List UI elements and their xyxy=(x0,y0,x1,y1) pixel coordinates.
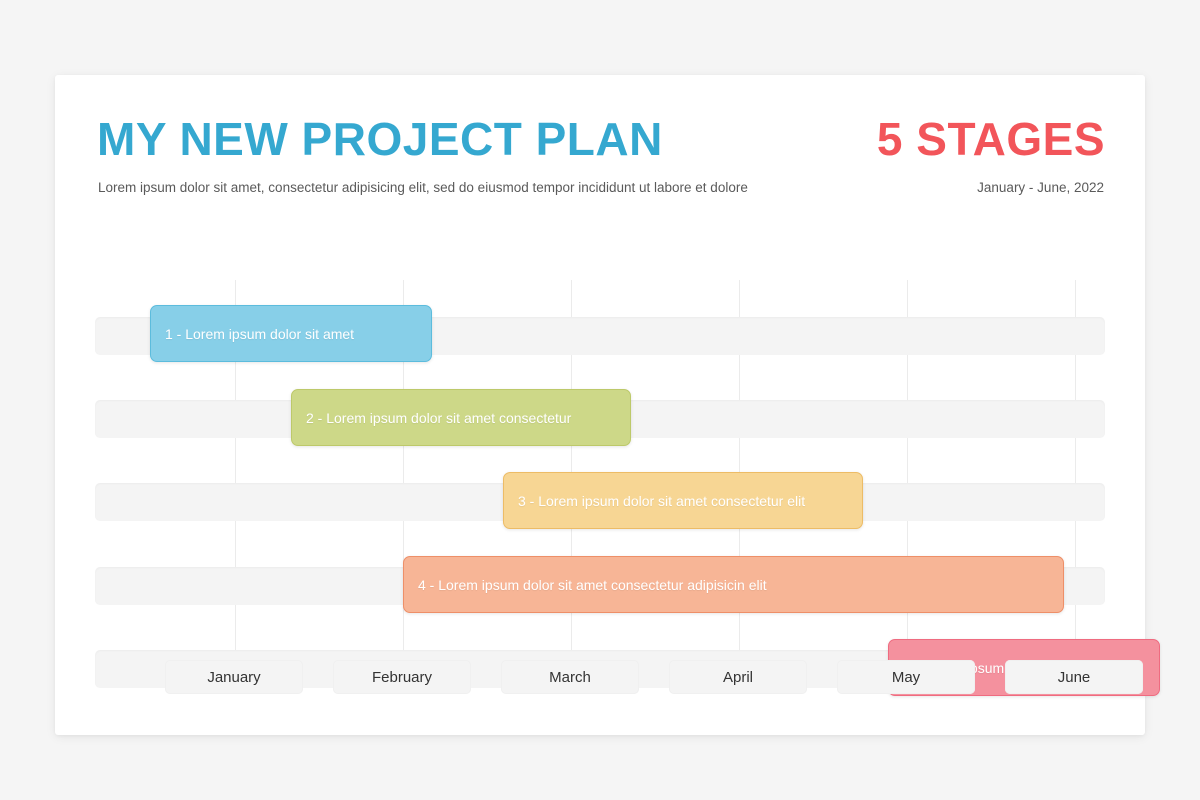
gantt-plot-area: 1 - Lorem ipsum dolor sit amet2 - Lorem … xyxy=(55,75,1145,735)
task-bar-4[interactable]: 4 - Lorem ipsum dolor sit amet consectet… xyxy=(403,556,1064,613)
task-bar-label: 2 - Lorem ipsum dolor sit amet consectet… xyxy=(292,410,585,426)
month-label-march[interactable]: March xyxy=(501,660,639,694)
task-bar-3[interactable]: 3 - Lorem ipsum dolor sit amet consectet… xyxy=(503,472,863,529)
task-bar-label: 3 - Lorem ipsum dolor sit amet consectet… xyxy=(504,493,819,509)
task-bar-1[interactable]: 1 - Lorem ipsum dolor sit amet xyxy=(150,305,432,362)
month-label-february[interactable]: February xyxy=(333,660,471,694)
month-label-june[interactable]: June xyxy=(1005,660,1143,694)
month-label-april[interactable]: April xyxy=(669,660,807,694)
month-label-may[interactable]: May xyxy=(837,660,975,694)
slide-canvas: MY NEW PROJECT PLAN 5 STAGES Lorem ipsum… xyxy=(0,0,1200,800)
task-bar-2[interactable]: 2 - Lorem ipsum dolor sit amet consectet… xyxy=(291,389,631,446)
month-label-january[interactable]: January xyxy=(165,660,303,694)
task-bar-label: 4 - Lorem ipsum dolor sit amet consectet… xyxy=(404,577,781,593)
gantt-card: MY NEW PROJECT PLAN 5 STAGES Lorem ipsum… xyxy=(55,75,1145,735)
task-bar-label: 1 - Lorem ipsum dolor sit amet xyxy=(151,326,368,342)
